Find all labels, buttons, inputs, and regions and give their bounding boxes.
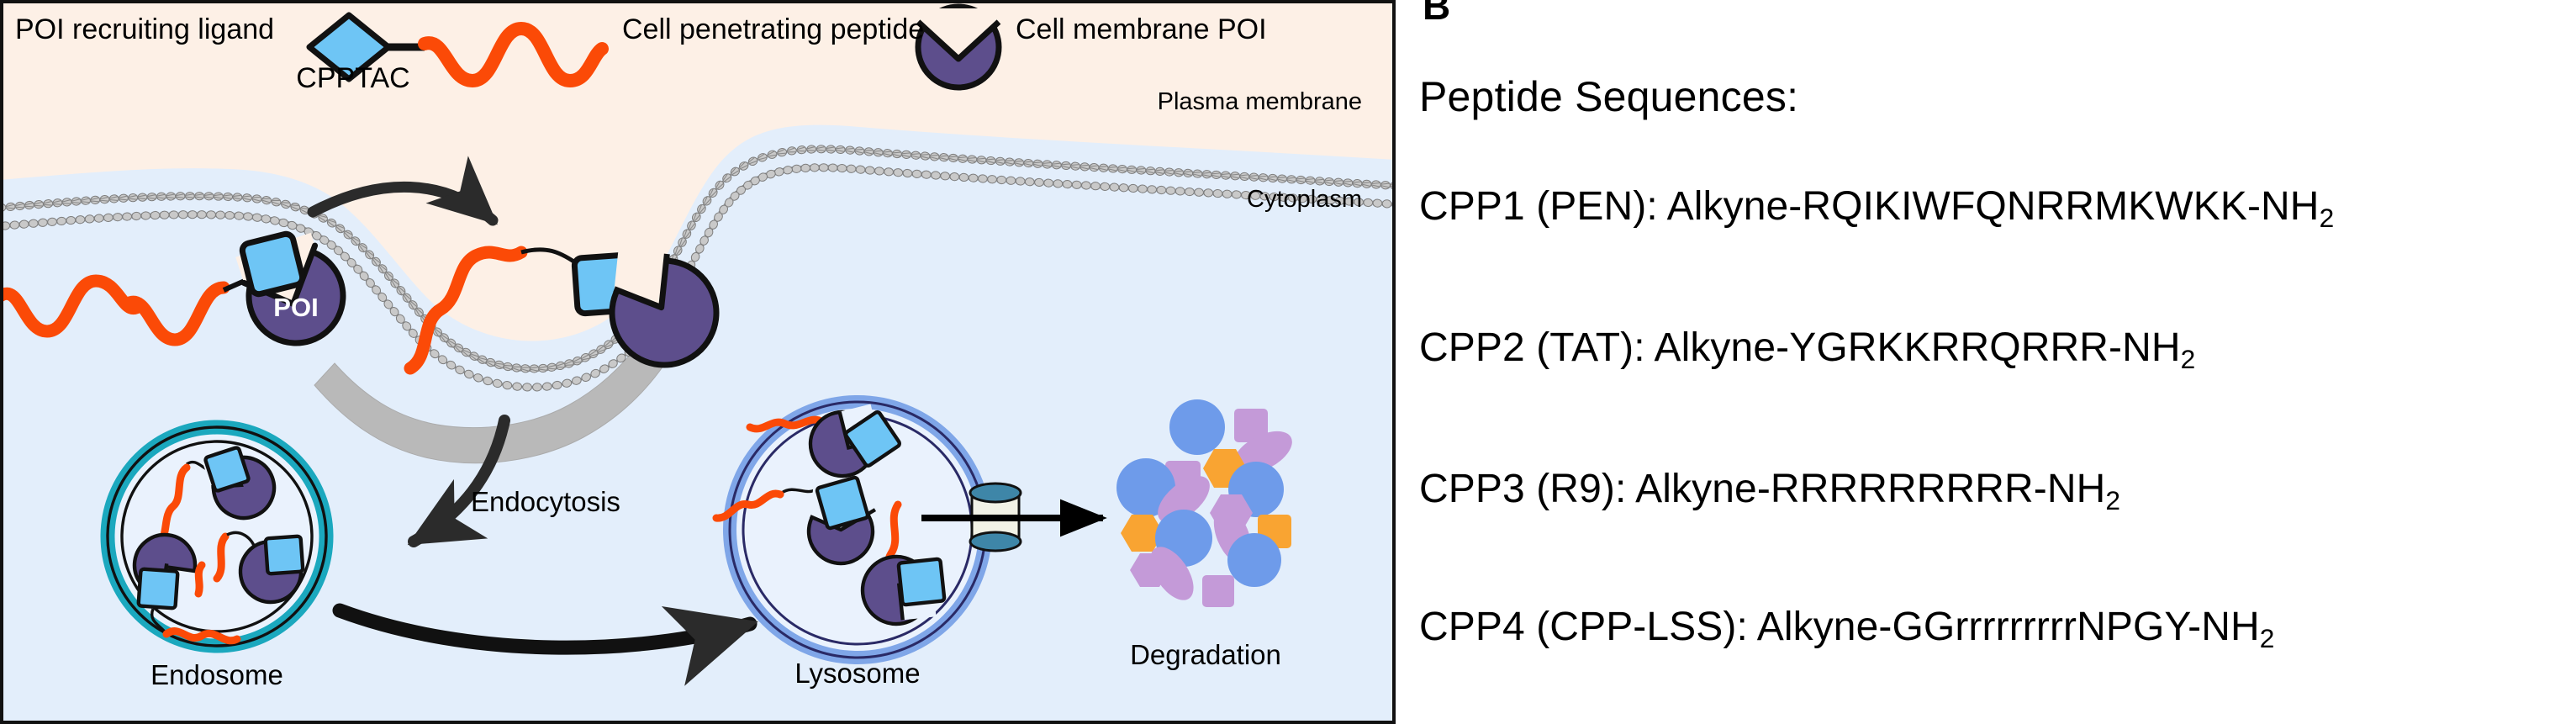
construct-label: CPPTAC [296,62,409,94]
endosome-label: Endosome [150,659,283,690]
sequence-line-cpp1: CPP1 (PEN): Alkyne-RQIKIWFQNRRMKWKK-NH2 [1419,183,2334,234]
sequence-line-cpp4: CPP4 (CPP-LSS): Alkyne-GGrrrrrrrrrNPGY-N… [1419,604,2274,654]
sequence-text-cpp1: CPP1 (PEN): Alkyne-RQIKIWFQNRRMKWKK-NH [1419,184,2320,229]
cytoplasm-label: Cytoplasm [1247,186,1362,213]
panel-letter-b: B [1423,0,1450,25]
legend-poi-label: Cell membrane POI [1016,13,1267,45]
sequence-subscript-cpp3: 2 [2105,485,2120,515]
peptide-sequences-title: Peptide Sequences: [1419,72,1798,121]
panel-b-peptide-sequences: B Peptide Sequences: CPP1 (PEN): Alkyne-… [1396,0,2576,724]
sequence-subscript-cpp4: 2 [2260,623,2275,653]
sequence-subscript-cpp2: 2 [2181,344,2196,374]
figure-root: POI recruiting ligand Cell penetrating p… [0,0,2576,724]
sequence-subscript-cpp1: 2 [2320,203,2335,233]
lysosome-label: Lysosome [794,658,920,689]
legend-poi-icon [918,7,999,87]
poi-badge-label: POI [273,293,318,322]
sequence-text-cpp3: CPP3 (R9): Alkyne-RRRRRRRRR-NH [1419,467,2105,511]
sequence-line-cpp3: CPP3 (R9): Alkyne-RRRRRRRRR-NH2 [1419,466,2120,516]
degradation-label: Degradation [1130,639,1281,670]
sequence-line-cpp2: CPP2 (TAT): Alkyne-YGRKKRRQRRR-NH2 [1419,325,2195,375]
legend-cpp-label: Cell penetrating peptide [622,13,924,45]
plasma-membrane-label: Plasma membrane [1158,88,1362,115]
endocytosis-label: Endocytosis [471,486,620,517]
panel-a-cell-schematic: POI recruiting ligand Cell penetrating p… [0,0,1396,724]
legend-ligand-label: POI recruiting ligand [15,13,274,45]
sequence-text-cpp2: CPP2 (TAT): Alkyne-YGRKKRRQRRR-NH [1419,325,2181,370]
sequence-text-cpp4: CPP4 (CPP-LSS): Alkyne-GGrrrrrrrrrNPGY-N… [1419,605,2260,649]
